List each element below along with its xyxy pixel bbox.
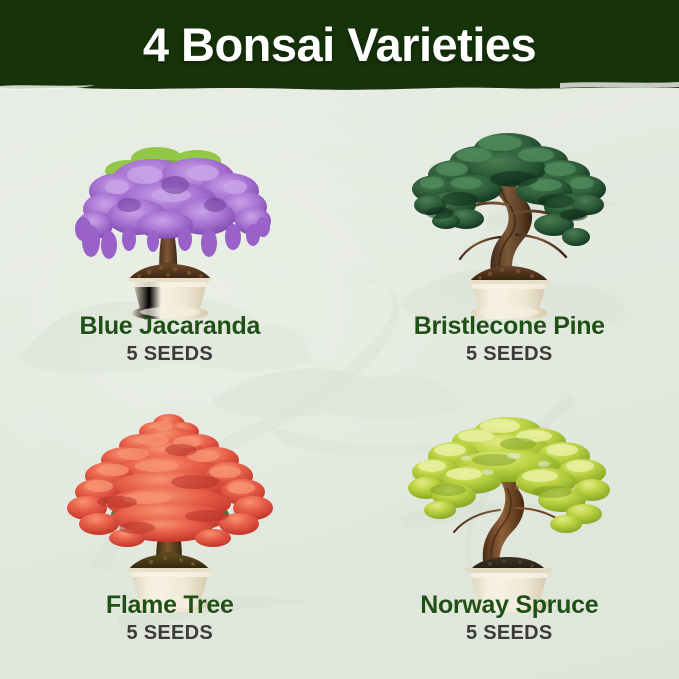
seed-count: 5 SEEDS <box>340 621 679 645</box>
variety-card-norway-spruce[interactable]: Norway Spruce 5 SEEDS <box>340 388 679 679</box>
header-banner: 4 Bonsai Varieties <box>0 0 679 97</box>
variety-caption: Blue Jacaranda 5 SEEDS <box>0 312 340 366</box>
seed-count: 5 SEEDS <box>0 621 340 645</box>
variety-caption: Flame Tree 5 SEEDS <box>0 591 340 645</box>
plant-name: Blue Jacaranda <box>0 312 340 341</box>
plant-name: Flame Tree <box>0 591 340 620</box>
variety-caption: Norway Spruce 5 SEEDS <box>340 591 679 645</box>
variety-card-blue-jacaranda[interactable]: Blue Jacaranda 5 SEEDS <box>0 97 340 388</box>
jacaranda-bonsai-illustration <box>57 109 283 319</box>
plant-name: Bristlecone Pine <box>340 312 679 341</box>
variety-grid: Blue Jacaranda 5 SEEDS <box>0 97 679 679</box>
bristlecone-pine-bonsai-illustration <box>396 109 622 319</box>
seed-count: 5 SEEDS <box>0 342 340 366</box>
flame-tree-bonsai-illustration <box>57 398 283 613</box>
variety-card-flame-tree[interactable]: Flame Tree 5 SEEDS <box>0 388 340 679</box>
variety-card-bristlecone-pine[interactable]: Bristlecone Pine 5 SEEDS <box>340 97 679 388</box>
plant-name: Norway Spruce <box>340 591 679 620</box>
norway-spruce-bonsai-illustration <box>396 398 622 613</box>
variety-caption: Bristlecone Pine 5 SEEDS <box>340 312 679 366</box>
page-title: 4 Bonsai Varieties <box>0 0 679 88</box>
product-infographic: 4 Bonsai Varieties <box>0 0 679 679</box>
seed-count: 5 SEEDS <box>340 342 679 366</box>
